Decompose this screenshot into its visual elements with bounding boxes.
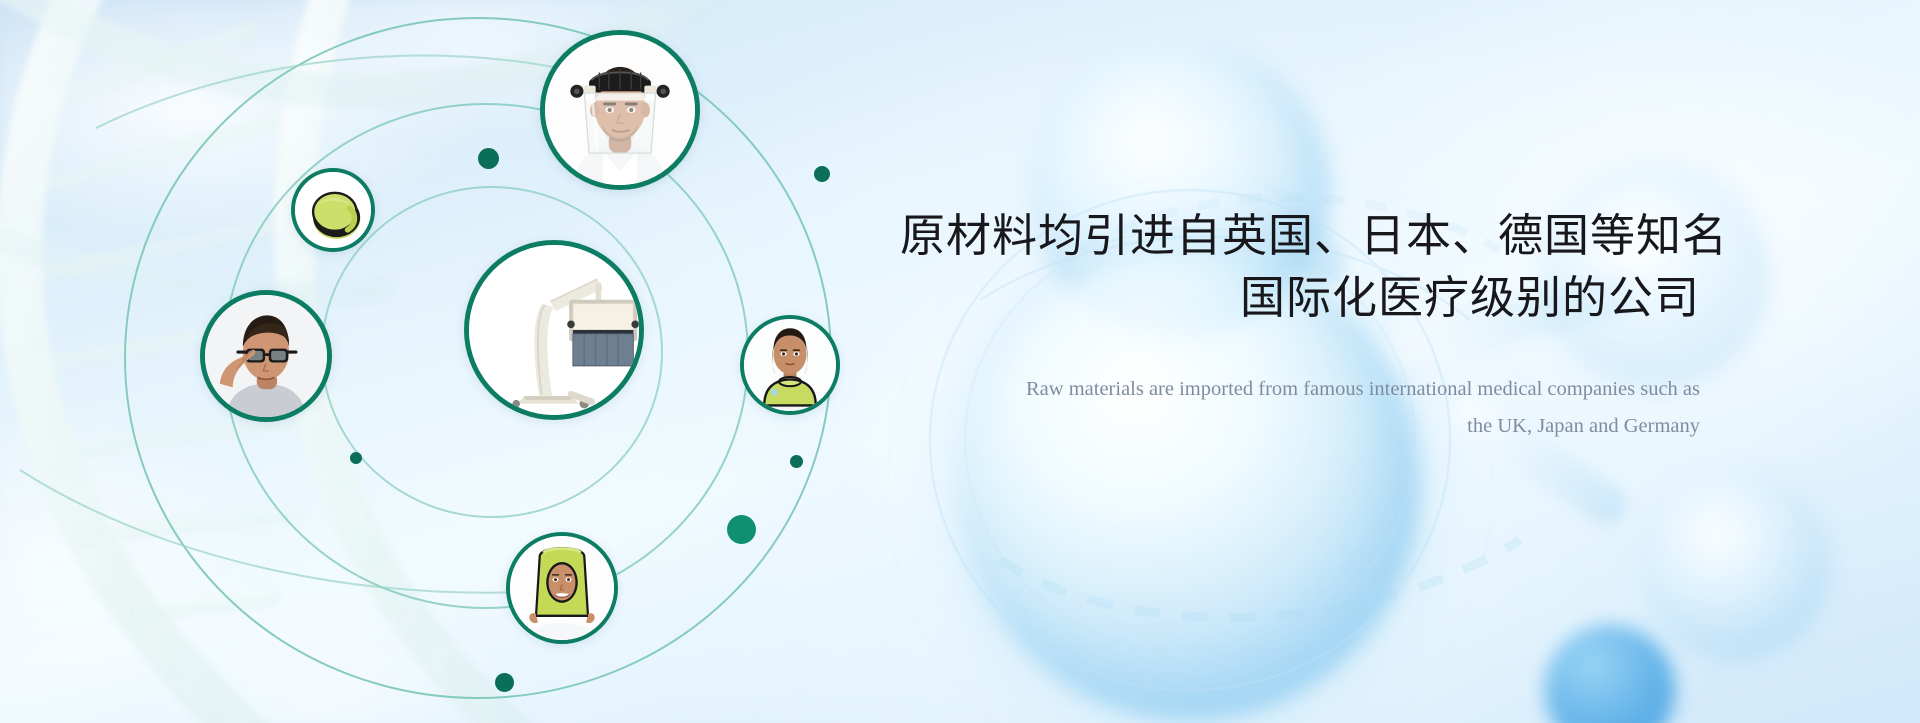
mobile-lead-barrier-photo [469, 245, 639, 415]
product-node-face-shield[interactable] [540, 30, 700, 190]
banner-copy: 原材料均引进自英国、日本、德国等知名 国际化医疗级别的公司 Raw materi… [900, 205, 1700, 444]
product-node-lead-cap[interactable] [291, 168, 375, 252]
lead-hood-photo [510, 536, 614, 640]
face-shield-photo [545, 35, 695, 185]
headline-line-1: 原材料均引进自英国、日本、德国等知名 [900, 210, 1728, 261]
headline-line-2: 国际化医疗级别的公司 [900, 267, 1700, 329]
orbit-dot-top [478, 148, 499, 169]
subtitle-line-2: the UK, Japan and Germany [900, 408, 1700, 444]
subtitle-line-1: Raw materials are imported from famous i… [900, 371, 1700, 407]
orbit-dot-small-left [350, 452, 362, 464]
lead-glasses-photo [205, 295, 327, 417]
lead-cap-photo [295, 172, 371, 248]
orbit-dot-large [727, 515, 756, 544]
orbit-dot-bottom [495, 673, 514, 692]
page-title: 原材料均引进自英国、日本、德国等知名 国际化医疗级别的公司 [900, 205, 1700, 329]
product-node-mobile-barrier[interactable] [464, 240, 644, 420]
product-node-lead-hood[interactable] [506, 532, 618, 644]
thyroid-collar-photo [744, 319, 836, 411]
product-node-lead-glasses[interactable] [200, 290, 332, 422]
orbit-dot-upper-right [814, 166, 830, 182]
product-node-thyroid-collar[interactable] [740, 315, 840, 415]
banner-subtitle: Raw materials are imported from famous i… [900, 371, 1700, 444]
orbit-dot-mid-right [790, 455, 803, 468]
hero-banner: 原材料均引进自英国、日本、德国等知名 国际化医疗级别的公司 Raw materi… [0, 0, 1920, 723]
